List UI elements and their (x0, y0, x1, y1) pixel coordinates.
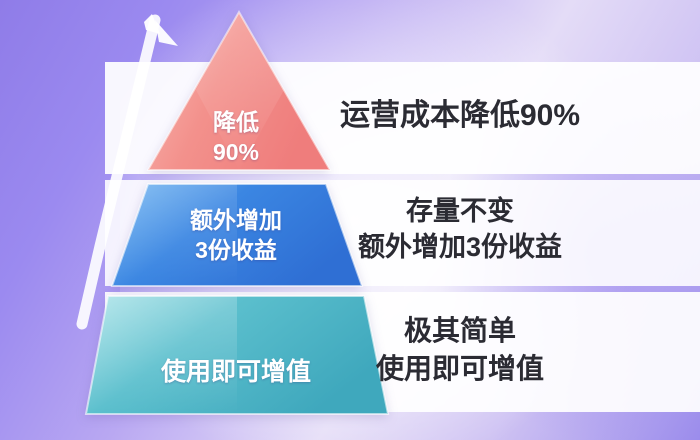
diagram-canvas: 降低 90% 额外增加 (0, 0, 700, 440)
description-row-3: 极其简单 使用即可增值 (250, 312, 670, 388)
description-row-1: 运营成本降低90% (250, 96, 670, 137)
description-row-2: 存量不变 额外增加3份收益 (250, 193, 670, 266)
